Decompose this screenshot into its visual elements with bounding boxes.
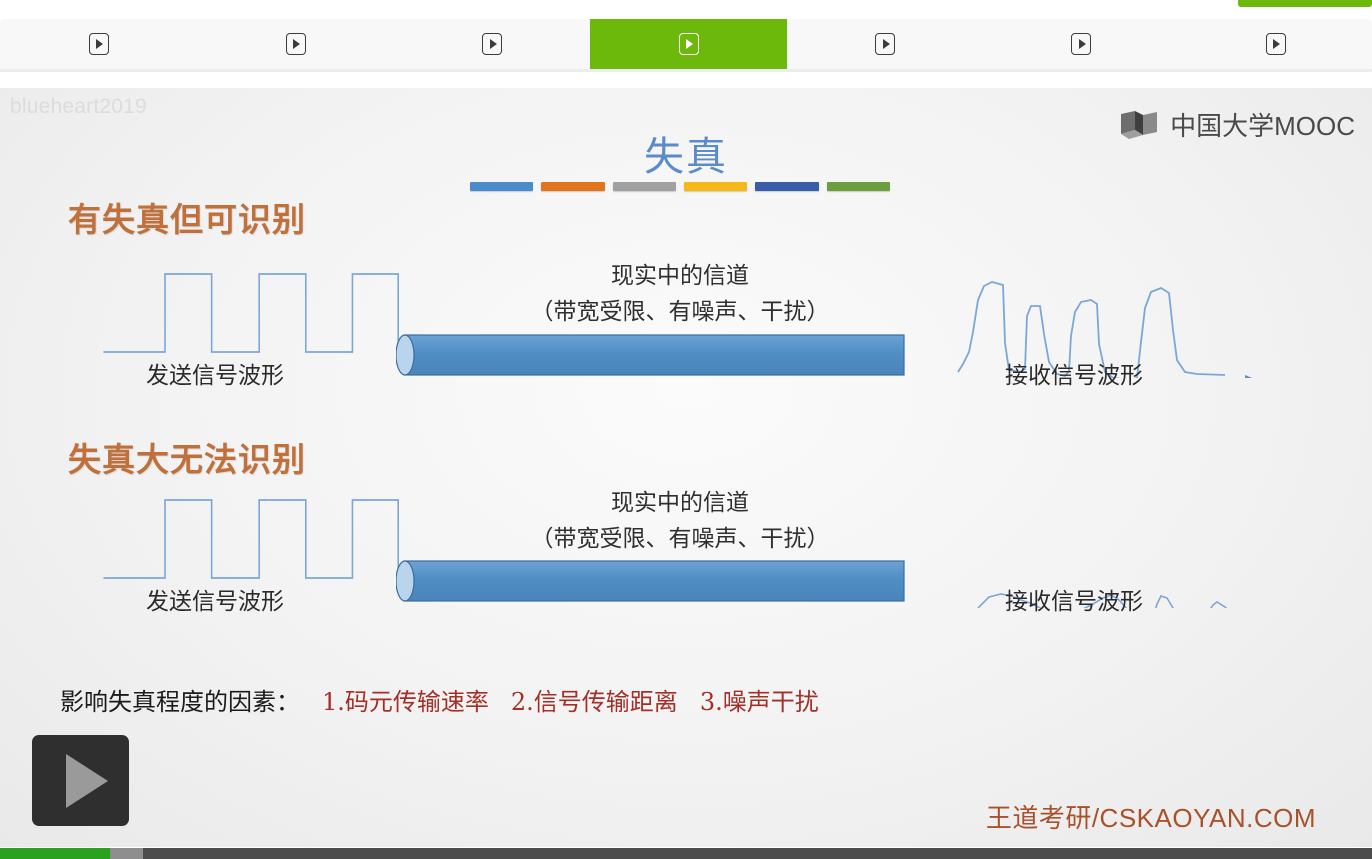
channel-pipe-row2 [396, 556, 912, 604]
chapter-tab-strip [0, 0, 1372, 88]
slide-canvas: blueheart2019 中国大学MOOC 失真 有失真但可识别 [0, 88, 1372, 847]
color-bar-3 [613, 182, 676, 191]
tab-lesson-6[interactable] [983, 19, 1179, 69]
play-button-overlay[interactable] [32, 735, 129, 826]
play-video-icon [89, 33, 109, 55]
play-video-icon [875, 33, 895, 55]
tab-lesson-7[interactable] [1179, 19, 1372, 69]
received-waveform-caption-row1: 接收信号波形 [1005, 356, 1143, 390]
sent-waveform-row2 [55, 478, 410, 588]
factor-item-1: 1.码元传输速率 [322, 682, 489, 717]
video-progress-bar[interactable] [0, 848, 1372, 859]
channel-caption-row2-line1: 现实中的信道 [470, 485, 890, 521]
tab-lesson-3[interactable] [394, 19, 590, 69]
color-bar-2 [541, 182, 604, 191]
play-video-icon [1266, 33, 1286, 55]
channel-caption-row2: 现实中的信道 （带宽受限、有噪声、干扰） [470, 485, 890, 557]
channel-caption-row1: 现实中的信道 （带宽受限、有噪声、干扰） [470, 258, 890, 330]
user-watermark: blueheart2019 [10, 95, 147, 119]
tab-lesson-4-active[interactable] [590, 19, 787, 69]
brand-footer: 王道考研/CSKAOYAN.COM [986, 798, 1316, 835]
sent-waveform-row1 [55, 248, 410, 363]
distortion-factors-line: 影响失真程度的因素： 1.码元传输速率 2.信号传输距离 3.噪声干扰 [60, 682, 819, 717]
play-icon [66, 754, 108, 808]
video-player-page: blueheart2019 中国大学MOOC 失真 有失真但可识别 [0, 0, 1372, 859]
title-decoration-bars [470, 182, 890, 192]
channel-caption-row2-line2: （带宽受限、有噪声、干扰） [470, 521, 890, 557]
factor-item-2: 2.信号传输距离 [511, 682, 678, 717]
play-video-icon [1071, 33, 1091, 55]
tabbar-divider [0, 69, 1372, 72]
sent-waveform-caption-row2: 发送信号波形 [146, 582, 284, 616]
tab-lesson-1[interactable] [0, 19, 197, 69]
factor-item-3: 3.噪声干扰 [700, 682, 819, 717]
factors-label: 影响失真程度的因素： [60, 682, 300, 717]
received-waveform-caption-row2: 接收信号波形 [1005, 582, 1143, 616]
section-heading-recognizable: 有失真但可识别 [68, 193, 306, 241]
color-bar-1 [470, 182, 533, 191]
color-bar-6 [827, 182, 890, 191]
color-bar-4 [684, 182, 747, 191]
chapter-tabbar [0, 19, 1372, 69]
channel-caption-row1-line1: 现实中的信道 [470, 258, 890, 294]
progress-played [0, 848, 110, 859]
play-video-icon [482, 33, 502, 55]
tab-lesson-5[interactable] [787, 19, 983, 69]
play-video-icon [286, 33, 306, 55]
tab-lesson-2[interactable] [197, 19, 394, 69]
top-green-indicator [1238, 0, 1372, 7]
channel-pipe-row1 [396, 330, 912, 378]
slide-title: 失真 [0, 124, 1372, 182]
play-video-icon [679, 33, 699, 55]
channel-caption-row1-line2: （带宽受限、有噪声、干扰） [470, 294, 890, 330]
sent-waveform-caption-row1: 发送信号波形 [146, 356, 284, 390]
color-bar-5 [755, 182, 818, 191]
section-heading-unrecognizable: 失真大无法识别 [68, 433, 306, 481]
